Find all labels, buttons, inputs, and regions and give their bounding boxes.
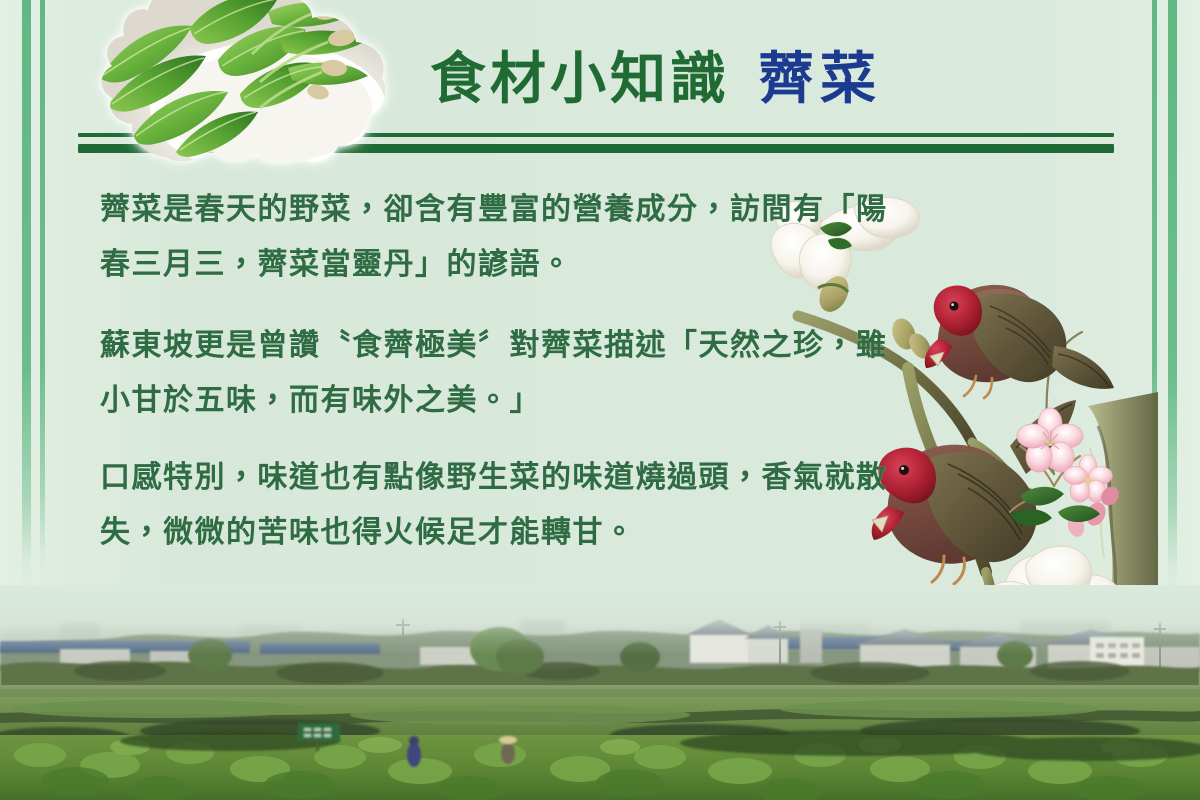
page-title-main: 食材小知識	[430, 47, 730, 112]
page-title: 食材小知識薺菜	[430, 52, 882, 108]
paragraph-3: 口感特別，味道也有點像野生菜的味道燒過頭，香氣就散失，微微的苦味也得火候足才能轉…	[100, 450, 900, 560]
paragraph-2: 蘇東坡更是曾讚〝食薺極美〞對薺菜描述「天然之珍，雖小甘於五味，而有味外之美。」	[100, 318, 900, 428]
vertical-rule-right-outer	[1168, 0, 1177, 686]
poster-root: 食材小知識薺菜	[0, 0, 1200, 800]
paragraph-1: 薺菜是春天的野菜，卻含有豐富的營養成分，訪間有「陽春三月三，薺菜當靈丹」的諺語。	[100, 182, 900, 292]
vertical-rule-left-outer	[22, 0, 31, 676]
page-title-subject: 薺菜	[758, 47, 882, 112]
vertical-rule-right-inner	[1152, 0, 1157, 671]
vertical-rule-left-inner	[40, 0, 45, 666]
farm-field-photo	[0, 585, 1200, 800]
vegetable-photo	[72, 0, 390, 162]
article-body: 薺菜是春天的野菜，卻含有豐富的營養成分，訪間有「陽春三月三，薺菜當靈丹」的諺語。…	[100, 182, 900, 560]
